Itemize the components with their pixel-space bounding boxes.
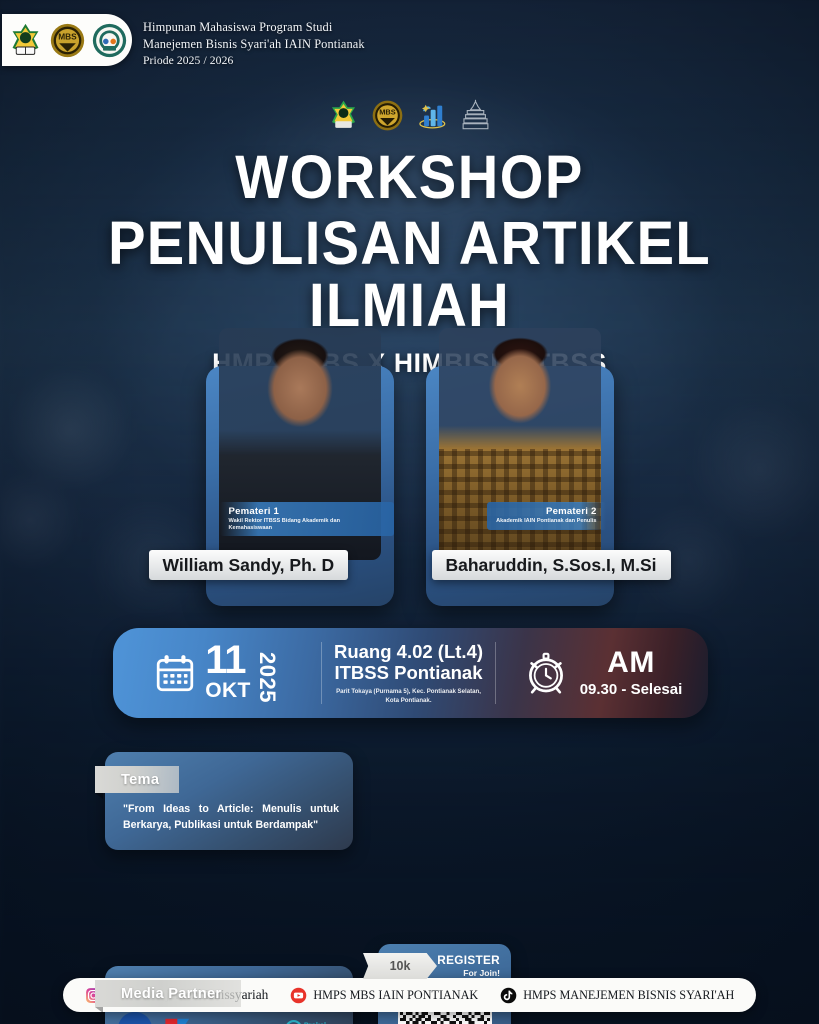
- tiktok-handle: HMPS MANEJEMEN BISNIS SYARI'AH: [523, 988, 734, 1003]
- header-logo-pill: MBS: [2, 14, 132, 66]
- register-subtitle: For Join!: [437, 968, 500, 978]
- mbs-logo: MBS: [49, 22, 86, 59]
- event-info-bar: 11 OKT 2025 Ruang 4.02 (Lt.4) ITBSS Pont…: [113, 628, 708, 718]
- social-item-tiktok[interactable]: HMPS MANEJEMEN BISNIS SYARI'AH: [500, 987, 734, 1004]
- partner-logo-row: MBS: [0, 99, 819, 132]
- event-year: 2025: [254, 652, 280, 703]
- event-date-block: 11 OKT 2025: [113, 643, 321, 702]
- speaker-badge-label-2: Pemateri 2: [496, 506, 596, 517]
- svg-text:MBS: MBS: [58, 31, 77, 41]
- youtube-icon: [290, 987, 307, 1004]
- media-partner-logos: # Pontianak Post Prokal Pontianak: [117, 1012, 343, 1024]
- tema-ribbon-label: Tema: [95, 766, 179, 793]
- venue-line-1: Ruang 4.02 (Lt.4): [330, 641, 487, 662]
- svg-text:Prokal: Prokal: [304, 1021, 326, 1024]
- poster-header: MBS Himpunan Mahasiswa Program Studi Man…: [0, 14, 819, 78]
- event-poster: MBS Himpunan Mahasiswa Program Studi Man…: [0, 0, 819, 1024]
- event-month: OKT: [205, 679, 251, 703]
- speaker-card-2: Pemateri 2 Akademik IAIN Pontianak dan P…: [426, 366, 614, 606]
- speaker-badge-label-1: Pemateri 1: [229, 506, 385, 517]
- org-line-2: Manejemen Bisnis Syari'ah IAIN Pontianak: [143, 36, 365, 53]
- org-period: Priode 2025 / 2026: [143, 53, 365, 69]
- register-title: REGISTER: [437, 953, 500, 967]
- org-line-1: Himpunan Mahasiswa Program Studi: [143, 19, 365, 36]
- register-title-block: REGISTER For Join!: [437, 953, 500, 978]
- media-partner-ribbon-label: Media Partner: [95, 980, 241, 1007]
- venue-line-2: ITBSS Pontianak: [330, 662, 487, 683]
- institute-building-logo: [459, 99, 492, 132]
- event-time-range: 09.30 - Selesai: [580, 681, 683, 698]
- event-day: 11: [205, 643, 251, 677]
- mbs-logo: MBS: [371, 99, 404, 132]
- calendar-icon: [154, 652, 196, 694]
- social-item-youtube[interactable]: HMPS MBS IAIN PONTIANAK: [290, 987, 478, 1004]
- tema-text: "From Ideas to Article: Menulis untuk Be…: [123, 801, 339, 834]
- svg-text:MBS: MBS: [379, 108, 396, 117]
- title-block: WORKSHOP PENULISAN ARTIKEL ILMIAH HMPS M…: [0, 148, 819, 379]
- alarm-clock-icon: [522, 649, 570, 697]
- page-title-line-1: WORKSHOP: [33, 148, 786, 208]
- header-org-text: Himpunan Mahasiswa Program Studi Manejem…: [143, 14, 365, 69]
- prokal-pontianak-logo: Prokal Pontianak: [285, 1016, 343, 1024]
- event-meridiem: AM: [580, 648, 683, 678]
- hmps-emblem-logo: [91, 22, 128, 59]
- itbss-logo: [415, 99, 448, 132]
- register-capacity-ribbon: 10k: [363, 953, 437, 979]
- speaker-card-1: Pemateri 1 Wakil Rektor ITBSS Bidang Aka…: [206, 366, 394, 606]
- speaker-name-plate-1: William Sandy, Ph. D: [149, 550, 349, 580]
- event-time-block: AM 09.30 - Selesai: [496, 648, 708, 698]
- red-blue-ribbon-logo: [160, 1012, 198, 1024]
- pontianak-post-logo: Pontianak Post: [204, 1019, 278, 1024]
- tema-panel: Tema "From Ideas to Article: Menulis unt…: [105, 752, 353, 850]
- iain-pontianak-logo: [7, 22, 44, 59]
- speaker-role-2: Akademik IAIN Pontianak dan Penulis: [496, 518, 596, 525]
- iain-pontianak-logo: [327, 99, 360, 132]
- speaker-badge-1: Pemateri 1 Wakil Rektor ITBSS Bidang Aka…: [220, 502, 394, 536]
- event-venue-block: Ruang 4.02 (Lt.4) ITBSS Pontianak Parit …: [322, 641, 495, 706]
- tiktok-icon: [500, 987, 517, 1004]
- youtube-handle: HMPS MBS IAIN PONTIANAK: [313, 988, 478, 1003]
- page-title-line-2: PENULISAN ARTIKEL ILMIAH: [33, 212, 786, 336]
- speaker-role-1: Wakil Rektor ITBSS Bidang Akademik dan K…: [229, 518, 385, 531]
- speaker-name-plate-2: Baharuddin, S.Sos.I, M.Si: [432, 550, 671, 580]
- pontianak-informasi-logo: #: [117, 1011, 153, 1024]
- speakers-section: Pemateri 1 Wakil Rektor ITBSS Bidang Aka…: [0, 366, 819, 606]
- venue-address: Parit Tokaya (Purnama 5), Kec. Pontianak…: [330, 688, 487, 706]
- speaker-badge-2: Pemateri 2 Akademik IAIN Pontianak dan P…: [487, 502, 605, 530]
